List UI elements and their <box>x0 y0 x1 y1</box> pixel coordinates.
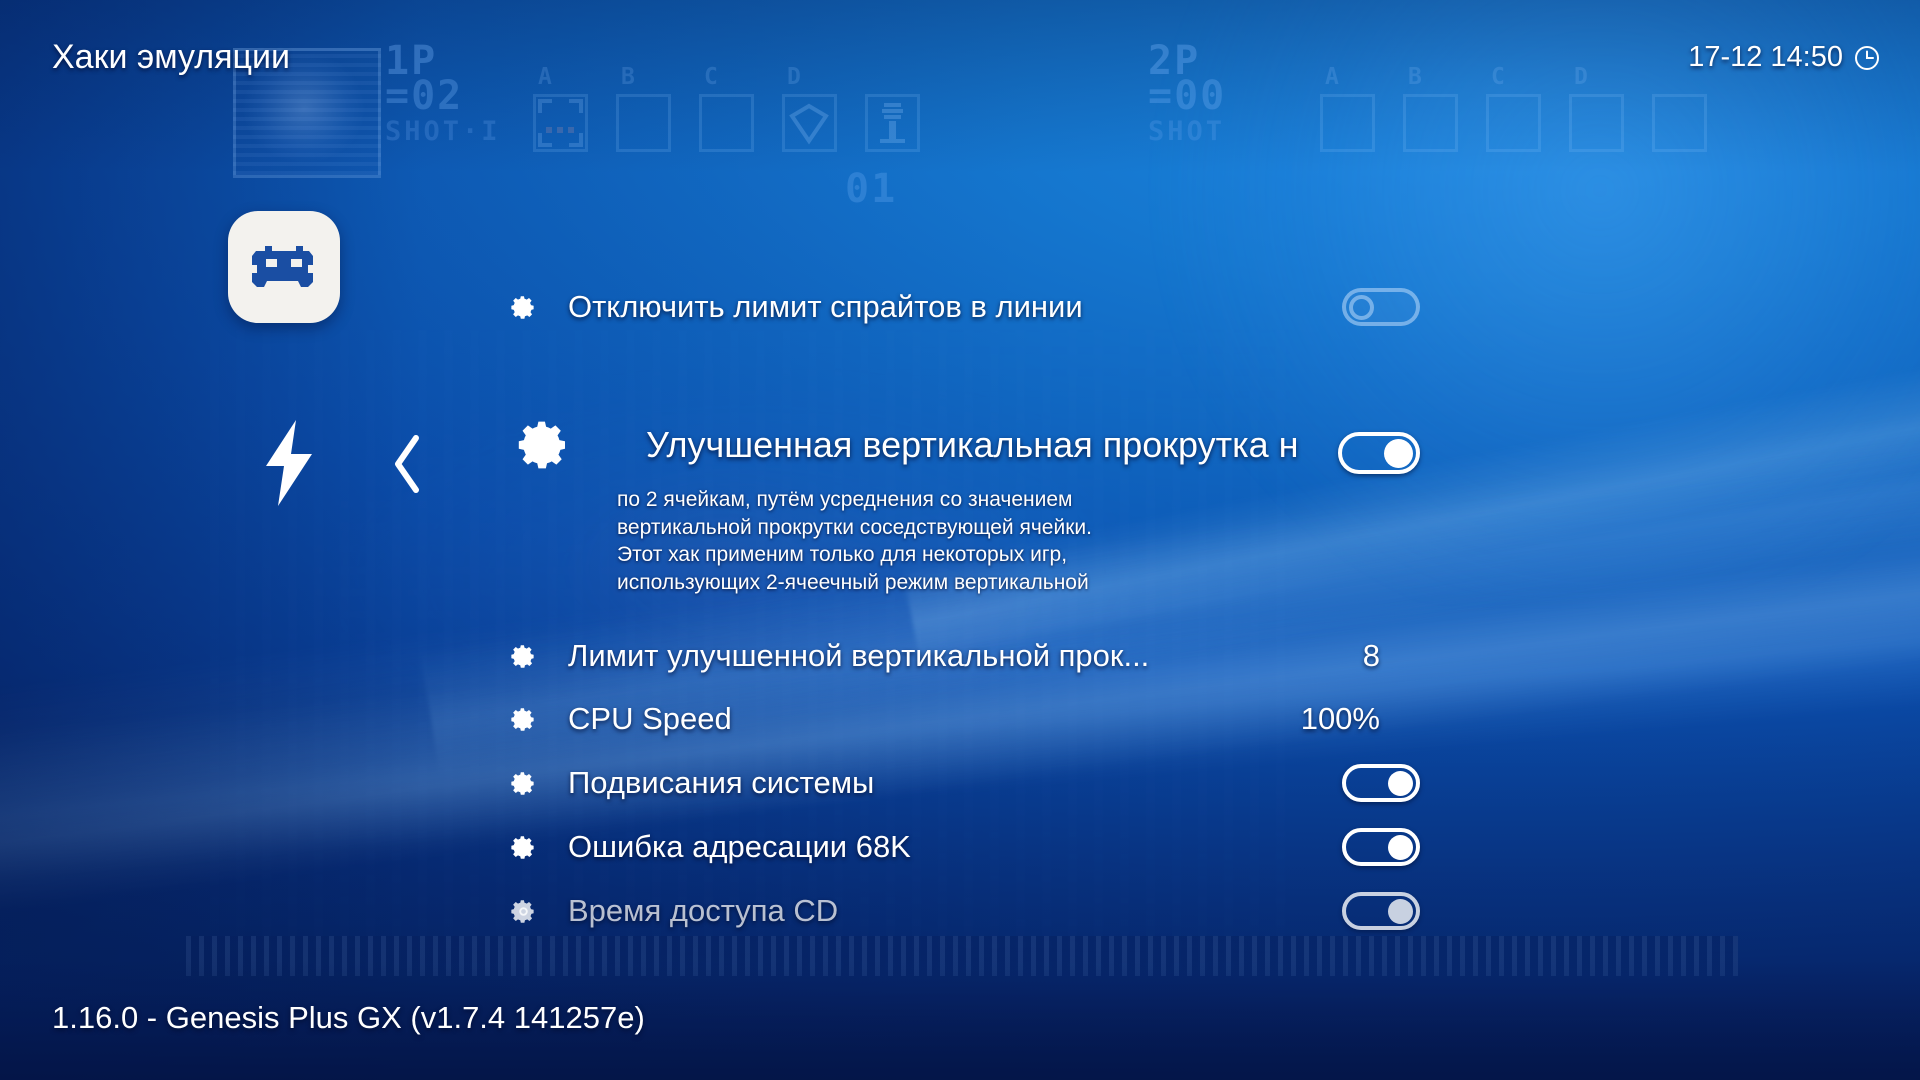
description-line-1: по 2 ячейкам, путём усреднения со значен… <box>617 486 1377 514</box>
gear-icon <box>500 643 546 670</box>
selected-row-header: Улучшенная вертикальная прокрутка н <box>500 408 1920 482</box>
toggle-cd-access-time[interactable] <box>1342 892 1420 930</box>
list-item-label: Лимит улучшенной вертикальной прок... <box>568 638 1149 674</box>
gear-icon <box>500 898 546 925</box>
list-item-label: Ошибка адресации 68K <box>568 829 911 865</box>
list-item-value: 100% <box>1301 701 1380 737</box>
description-line-3: Этот хак применим только для некоторых и… <box>617 541 1377 569</box>
toggle-knob <box>1388 771 1413 796</box>
selected-row-label: Улучшенная вертикальная прокрутка н <box>646 424 1299 466</box>
list-item-68k-address-error[interactable]: Ошибка адресации 68K <box>500 823 1920 871</box>
gear-icon <box>500 417 588 473</box>
description-line-2: вертикальной прокрутки соседствующей яче… <box>617 514 1377 542</box>
toggle-knob <box>1388 835 1413 860</box>
list-item-enhanced-vscroll-limit[interactable]: Лимит улучшенной вертикальной прок... 8 <box>500 632 1920 680</box>
toggle-enhanced-vscroll[interactable] <box>1338 432 1420 474</box>
list-item-cpu-speed[interactable]: CPU Speed 100% <box>500 695 1920 743</box>
list-item-enhanced-vscroll-selected[interactable]: Улучшенная вертикальная прокрутка н по 2… <box>500 408 1920 596</box>
toggle-system-lockups[interactable] <box>1342 764 1420 802</box>
list-item-disable-sprite-limit[interactable]: Отключить лимит спрайтов в линии <box>500 283 1920 331</box>
list-item-system-lockups[interactable]: Подвисания системы <box>500 759 1920 807</box>
selected-row-description: по 2 ячейкам, путём усреднения со значен… <box>617 486 1377 596</box>
settings-list: Отключить лимит спрайтов в линии Улучшен… <box>0 0 1920 1080</box>
list-item-label: CPU Speed <box>568 701 732 737</box>
toggle-disable-sprite-limit[interactable] <box>1342 288 1420 326</box>
description-line-4: использующих 2-ячеечный режим вертикальн… <box>617 569 1377 597</box>
footer-bar: 1.16.0 - Genesis Plus GX (v1.7.4 141257e… <box>0 960 1920 1080</box>
core-version-label: 1.16.0 - Genesis Plus GX (v1.7.4 141257e… <box>52 1000 645 1036</box>
toggle-68k-address-error[interactable] <box>1342 828 1420 866</box>
toggle-knob <box>1349 295 1374 320</box>
gear-icon <box>500 706 546 733</box>
gear-icon <box>500 294 546 321</box>
list-item-label: Отключить лимит спрайтов в линии <box>568 289 1083 325</box>
toggle-knob <box>1388 899 1413 924</box>
list-item-value: 8 <box>1363 638 1380 674</box>
toggle-knob <box>1384 439 1413 468</box>
gear-icon <box>500 770 546 797</box>
list-item-label: Время доступа CD <box>568 893 838 929</box>
list-item-cd-access-time[interactable]: Время доступа CD <box>500 887 1920 935</box>
list-item-label: Подвисания системы <box>568 765 874 801</box>
gear-icon <box>500 834 546 861</box>
